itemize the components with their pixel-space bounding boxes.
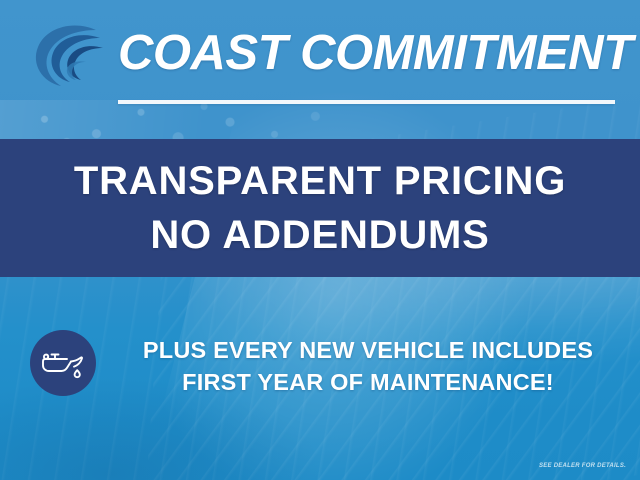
headline-band: TRANSPARENT PRICING NO ADDENDUMS [0, 139, 640, 277]
header-divider [118, 100, 615, 104]
promo-line-1: PLUS EVERY NEW VEHICLE INCLUDES [143, 334, 593, 366]
oil-can-icon [30, 330, 96, 396]
promo-line-2: FIRST YEAR OF MAINTENANCE! [182, 366, 554, 398]
headline-line-2: NO ADDENDUMS [150, 208, 489, 262]
page-title: COAST COMMITMENT [118, 22, 620, 84]
headline-line-1: TRANSPARENT PRICING [74, 154, 566, 208]
coast-commitment-banner: COAST COMMITMENT TRANSPARENT PRICING NO … [0, 0, 640, 480]
banner-header: COAST COMMITMENT [0, 0, 640, 139]
promo-section: PLUS EVERY NEW VEHICLE INCLUDES FIRST YE… [0, 320, 640, 412]
disclaimer-text: SEE DEALER FOR DETAILS. [539, 463, 626, 469]
promo-text-block: PLUS EVERY NEW VEHICLE INCLUDES FIRST YE… [108, 320, 628, 412]
coast-wave-swirl-icon [26, 18, 112, 92]
